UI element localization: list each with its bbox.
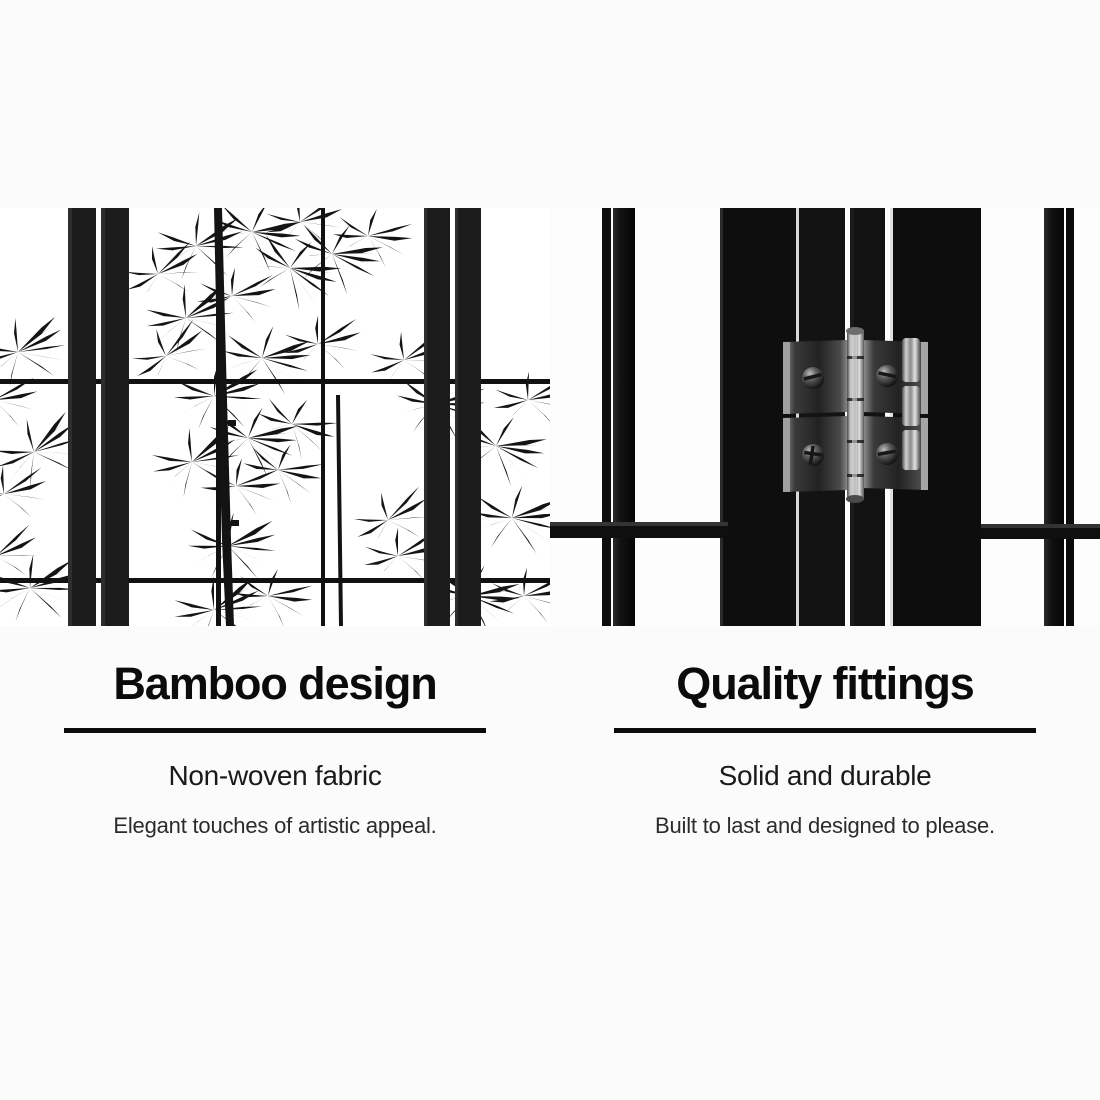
bamboo-screen-illustration [0,0,550,628]
quality-fittings-blurb: Built to last and designed to please. [586,792,1064,839]
photo-band [0,0,1100,628]
quality-fittings-subhead: Solid and durable [586,733,1064,792]
product-feature-graphic: Bamboo design Non-woven fabric Elegant t… [0,0,1100,1100]
bamboo-design-blurb: Elegant touches of artistic appeal. [36,792,514,839]
hinge-detail-illustration [550,0,1100,628]
bamboo-design-caption: Bamboo design Non-woven fabric Elegant t… [0,628,550,1100]
bamboo-design-subhead: Non-woven fabric [36,733,514,792]
caption-band: Bamboo design Non-woven fabric Elegant t… [0,628,1100,1100]
quality-fittings-photo [550,0,1100,628]
bamboo-design-photo [0,0,550,628]
bamboo-design-headline: Bamboo design [36,628,514,708]
quality-fittings-headline: Quality fittings [586,628,1064,708]
quality-fittings-caption: Quality fittings Solid and durable Built… [550,628,1100,1100]
